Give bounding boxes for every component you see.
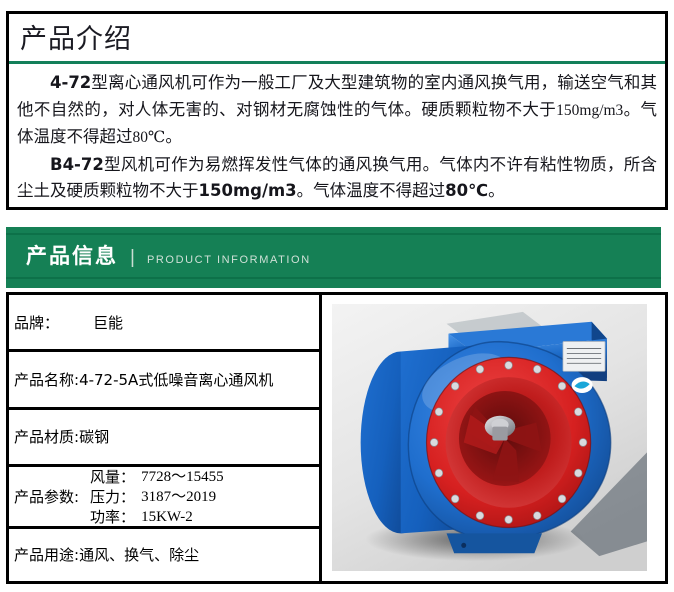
model-code-472: 4-72	[50, 73, 91, 92]
parameter-pressure-value: 3187～2019	[135, 487, 216, 507]
usage-value: 通风、换气、除尘	[79, 544, 199, 565]
parameter-power-value: 15KW-2	[135, 507, 193, 527]
base-foot	[447, 533, 542, 553]
product-page: 产品介绍 4-72型离心通风机可作为一般工厂及大型建筑物的室内通风换气用，输送空…	[0, 0, 674, 592]
header-band-line-bottom	[6, 277, 661, 279]
intro-p2-particulate: 150mg/m3	[199, 181, 297, 200]
product-name-label: 产品名称:	[14, 369, 79, 390]
product-info-row: 品牌： 巨能 产品名称: 4-72-5A式低噪音离心通风机 产品材质: 碳钢 产…	[6, 292, 668, 584]
section-title-cn: 产品信息	[26, 240, 118, 270]
title-underline-rule	[9, 61, 665, 64]
brand-label: 品牌：	[14, 312, 59, 333]
section-title-en: PRODUCT INFORMATION	[147, 254, 311, 266]
section-title-divider: |	[130, 247, 135, 269]
intro-p1-temp: 80℃	[133, 129, 166, 146]
table-row-parameters: 产品参数: 风量： 7728～15455 压力： 3187～2019 功率： 1	[9, 467, 319, 529]
header-label-group: 产品信息 | PRODUCT INFORMATION	[26, 240, 311, 274]
nameplate-icon	[563, 342, 605, 372]
table-row-brand: 品牌： 巨能	[9, 295, 319, 352]
material-label: 产品材质:	[14, 426, 79, 447]
parameter-power-key: 功率：	[79, 507, 135, 527]
parameter-airflow-key: 风量：	[79, 467, 135, 487]
intro-paragraph-1: 4-72型离心通风机可作为一般工厂及大型建筑物的室内通风换气用，输送空气和其他不…	[17, 70, 657, 152]
table-row-product-name: 产品名称: 4-72-5A式低噪音离心通风机	[9, 352, 319, 409]
shaft-collar	[492, 427, 507, 441]
product-intro-panel: 产品介绍 4-72型离心通风机可作为一般工厂及大型建筑物的室内通风换气用，输送空…	[6, 11, 668, 210]
usage-label: 产品用途:	[14, 544, 79, 565]
parameter-power: 功率： 15KW-2	[79, 507, 224, 527]
brand-value: 巨能	[93, 312, 123, 333]
parameter-pressure-key: 压力：	[79, 487, 135, 507]
intro-p1-particulate: 150mg/m3	[556, 102, 623, 119]
parameters-label: 产品参数:	[14, 486, 79, 507]
product-information-header-bar: 产品信息 | PRODUCT INFORMATION	[6, 227, 661, 288]
intro-paragraph-2: B4-72型风机可作为易燃挥发性气体的通风换气用。气体内不许有粘性物质，所含尘土…	[17, 152, 657, 205]
intro-p2-temp: 80℃	[445, 181, 488, 200]
parameter-pressure: 压力： 3187～2019	[79, 487, 224, 507]
model-code-b472: B4-72	[50, 155, 104, 174]
intro-p2-end: 。	[488, 181, 505, 200]
table-row-material: 产品材质: 碳钢	[9, 410, 319, 467]
parameters-group: 产品参数: 风量： 7728～15455 压力： 3187～2019 功率： 1	[14, 467, 224, 527]
intro-p2-tail: 。气体温度不得超过	[297, 181, 446, 200]
product-photo-cell	[322, 292, 668, 584]
header-band-line-top	[6, 233, 661, 235]
parameter-airflow: 风量： 7728～15455	[79, 467, 224, 487]
intro-body-text: 4-72型离心通风机可作为一般工厂及大型建筑物的室内通风换气用，输送空气和其他不…	[17, 70, 657, 205]
product-photo	[332, 304, 647, 571]
intro-p1-end: 。	[165, 127, 182, 146]
centrifugal-fan-illustration	[332, 304, 647, 571]
table-row-usage: 产品用途: 通风、换气、除尘	[9, 529, 319, 581]
parameters-lines: 风量： 7728～15455 压力： 3187～2019 功率： 15KW-2	[79, 467, 224, 527]
page-title: 产品介绍	[20, 22, 132, 56]
base-bolt-hole	[461, 543, 466, 548]
spec-table: 品牌： 巨能 产品名称: 4-72-5A式低噪音离心通风机 产品材质: 碳钢 产…	[6, 292, 319, 584]
material-value: 碳钢	[79, 426, 109, 447]
product-name-value: 4-72-5A式低噪音离心通风机	[79, 369, 273, 390]
parameter-airflow-value: 7728～15455	[135, 467, 224, 487]
